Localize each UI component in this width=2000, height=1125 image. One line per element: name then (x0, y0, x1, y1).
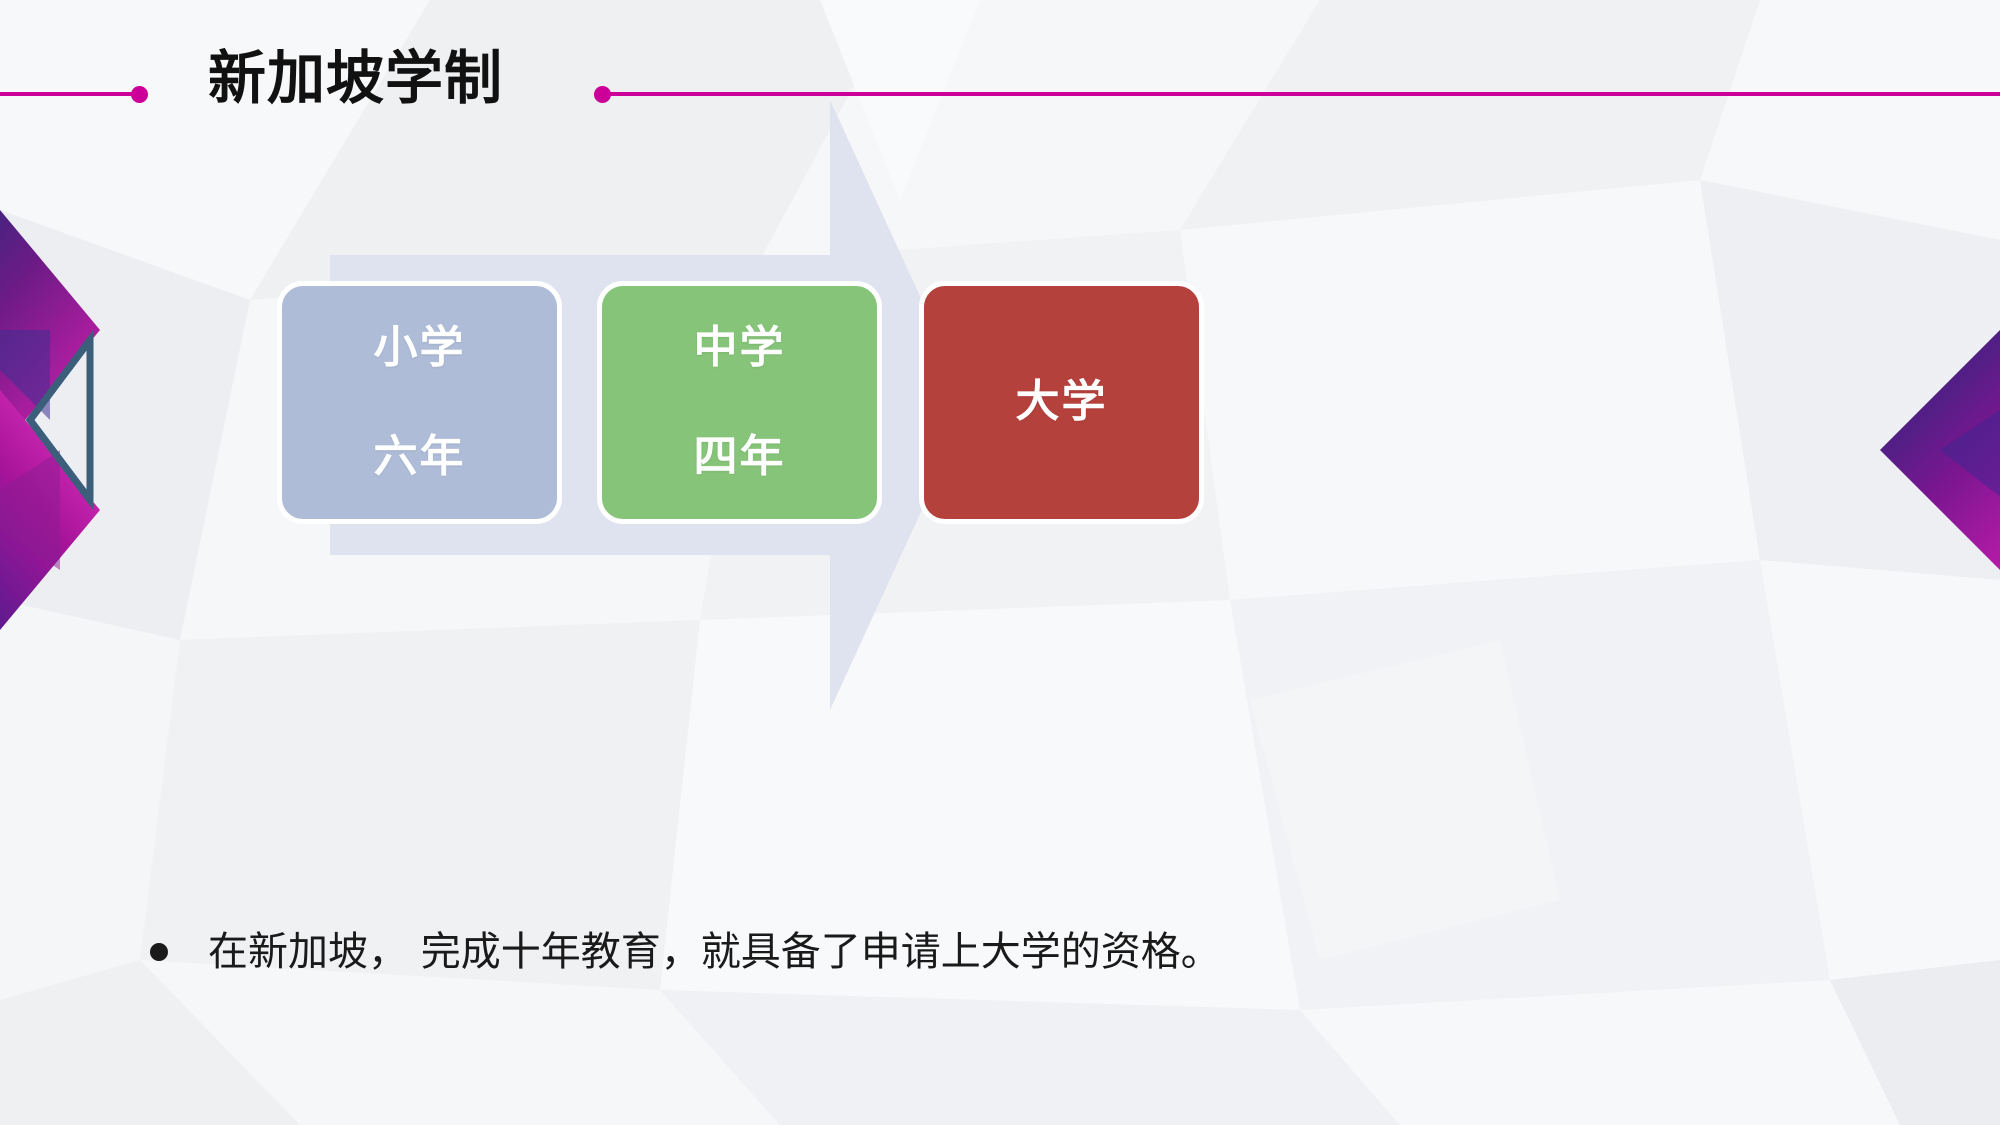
decoration-left-shape (0, 210, 200, 635)
divider-dot-right (594, 86, 611, 103)
stage-card-primary[interactable]: 小学 六年 (277, 281, 562, 524)
bullet-dot-icon (150, 943, 168, 961)
stage-primary-line2: 六年 (374, 434, 466, 480)
divider-line-left (0, 92, 138, 96)
slide-canvas: 新加坡学制 小学 六年 中学 四年 大学 (0, 0, 2000, 1125)
divider-dot-left (131, 86, 148, 103)
stage-secondary-line1: 中学 (694, 325, 786, 371)
bullet-text: 在新加坡， 完成十年教育，就具备了申请上大学的资格。 (208, 925, 1221, 979)
stage-secondary-line2: 四年 (694, 434, 786, 480)
stage-university-line1: 大学 (1016, 379, 1108, 425)
bullet-item: 在新加坡， 完成十年教育，就具备了申请上大学的资格。 (150, 925, 1221, 979)
page-title: 新加坡学制 (208, 44, 503, 114)
stage-card-university[interactable]: 大学 (919, 281, 1204, 524)
stage-card-secondary[interactable]: 中学 四年 (597, 281, 882, 524)
decoration-right-shape (1880, 330, 2000, 655)
divider-line-right (604, 92, 2000, 96)
stage-primary-line1: 小学 (374, 325, 466, 371)
